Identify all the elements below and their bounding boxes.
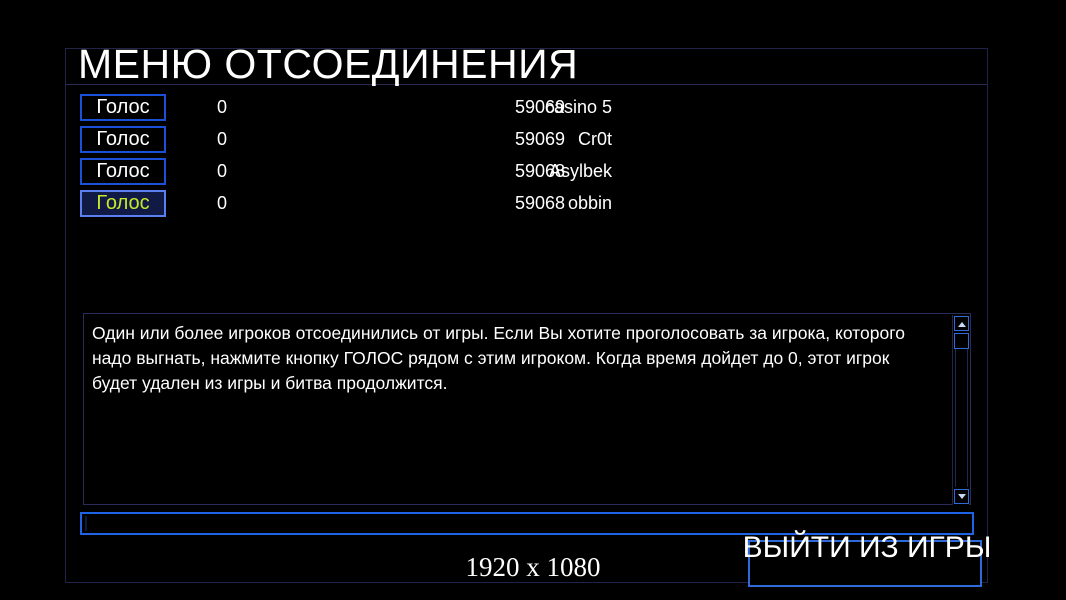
text-caret <box>85 516 87 531</box>
exit-game-label: ВЫЙТИ ИЗ ИГРЫ <box>740 530 994 566</box>
vote-button-1[interactable]: Голос <box>80 126 166 153</box>
scrollbar-track[interactable] <box>955 333 968 487</box>
player-id-1: 59069 <box>460 128 565 150</box>
vote-button-0[interactable]: Голос <box>80 94 166 121</box>
info-text: Один или более игроков отсоединились от … <box>92 321 937 396</box>
exit-game-button[interactable]: ВЫЙТИ ИЗ ИГРЫ <box>748 540 982 587</box>
triangle-up-icon <box>958 322 966 327</box>
table-row: Голос 0 obbin 59068 <box>80 189 580 221</box>
scrollbar-thumb[interactable] <box>954 333 969 349</box>
vote-count-1: 0 <box>217 128 247 150</box>
player-list: Голос 0 casino 5 59069 Голос 0 Cr0t 5906… <box>80 93 580 221</box>
scroll-up-button[interactable] <box>954 316 969 331</box>
vote-button-3[interactable]: Голос <box>80 190 166 217</box>
triangle-down-icon <box>958 494 966 499</box>
table-row: Голос 0 Asylbek 59068 <box>80 157 580 189</box>
table-row: Голос 0 casino 5 59069 <box>80 93 580 125</box>
disconnect-menu-screen: МЕНЮ ОТСОЕДИНЕНИЯ Голос 0 casino 5 59069… <box>0 0 1066 600</box>
table-row: Голос 0 Cr0t 59069 <box>80 125 580 157</box>
scrollbar[interactable] <box>952 315 969 505</box>
page-title: МЕНЮ ОТСОЕДИНЕНИЯ <box>78 44 578 85</box>
player-id-3: 59068 <box>460 192 565 214</box>
player-id-2: 59068 <box>460 160 565 182</box>
vote-count-2: 0 <box>217 160 247 182</box>
player-id-0: 59069 <box>460 96 565 118</box>
vote-count-0: 0 <box>217 96 247 118</box>
vote-count-3: 0 <box>217 192 247 214</box>
scroll-down-button[interactable] <box>954 489 969 504</box>
vote-button-2[interactable]: Голос <box>80 158 166 185</box>
info-text-box: Один или более игроков отсоединились от … <box>83 313 971 505</box>
